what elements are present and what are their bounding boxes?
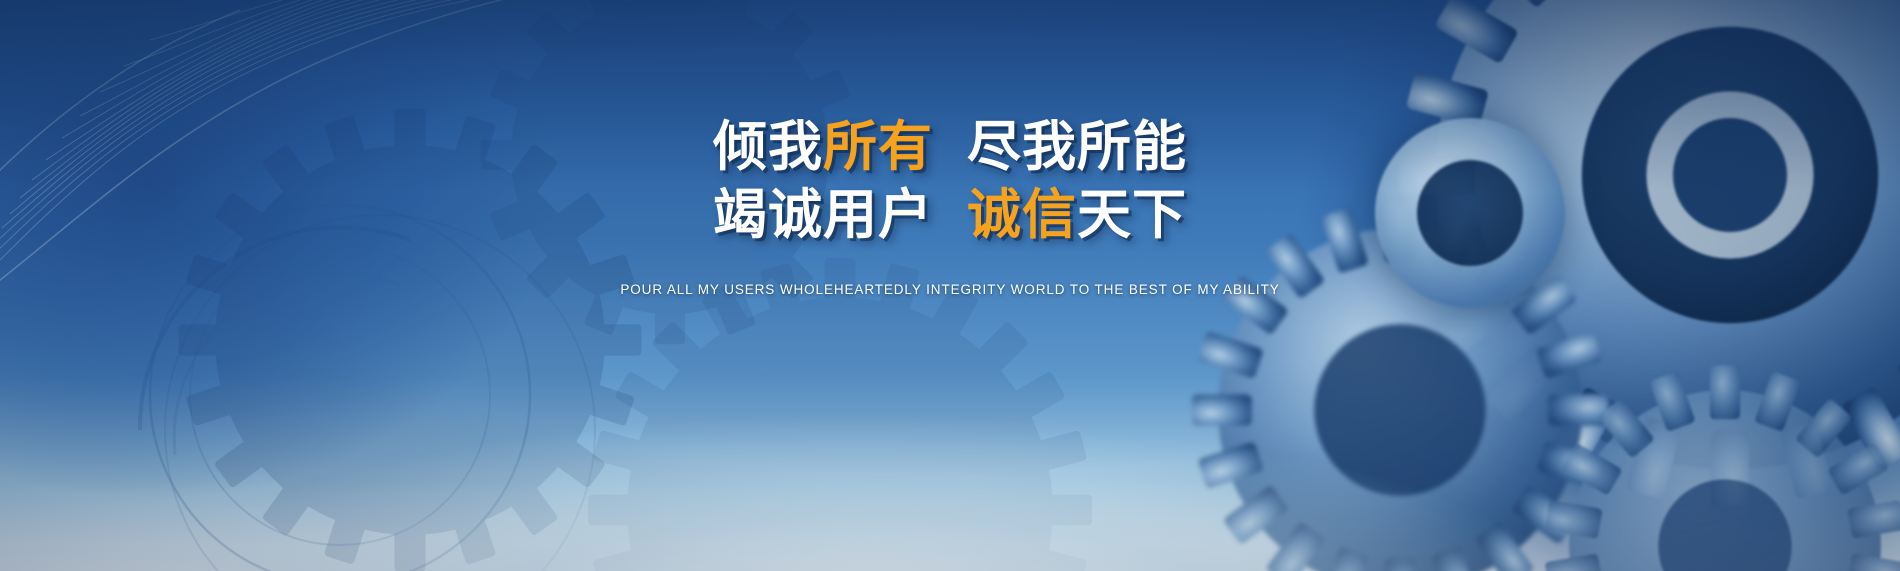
headline-line2-segment-1: 竭诚用户 <box>713 188 933 242</box>
headline-line1-segment-2: 所有 <box>823 120 933 174</box>
headline-line-1: 倾我 所有 尽我所能 <box>713 120 1187 174</box>
headline-line-2: 竭诚用户 诚信 天下 <box>713 188 1187 242</box>
banner-content: 倾我 所有 尽我所能 竭诚用户 诚信 天下 POUR ALL MY USERS … <box>0 0 1900 571</box>
hero-banner: 倾我 所有 尽我所能 竭诚用户 诚信 天下 POUR ALL MY USERS … <box>0 0 1900 571</box>
headline-line1-segment-3: 尽我所能 <box>967 120 1187 174</box>
headline-line1-segment-1: 倾我 <box>713 120 823 174</box>
banner-subtitle: POUR ALL MY USERS WHOLEHEARTEDLY INTEGRI… <box>620 282 1279 297</box>
headline-line2-segment-3: 天下 <box>1077 188 1187 242</box>
headline-line2-segment-2: 诚信 <box>967 188 1077 242</box>
